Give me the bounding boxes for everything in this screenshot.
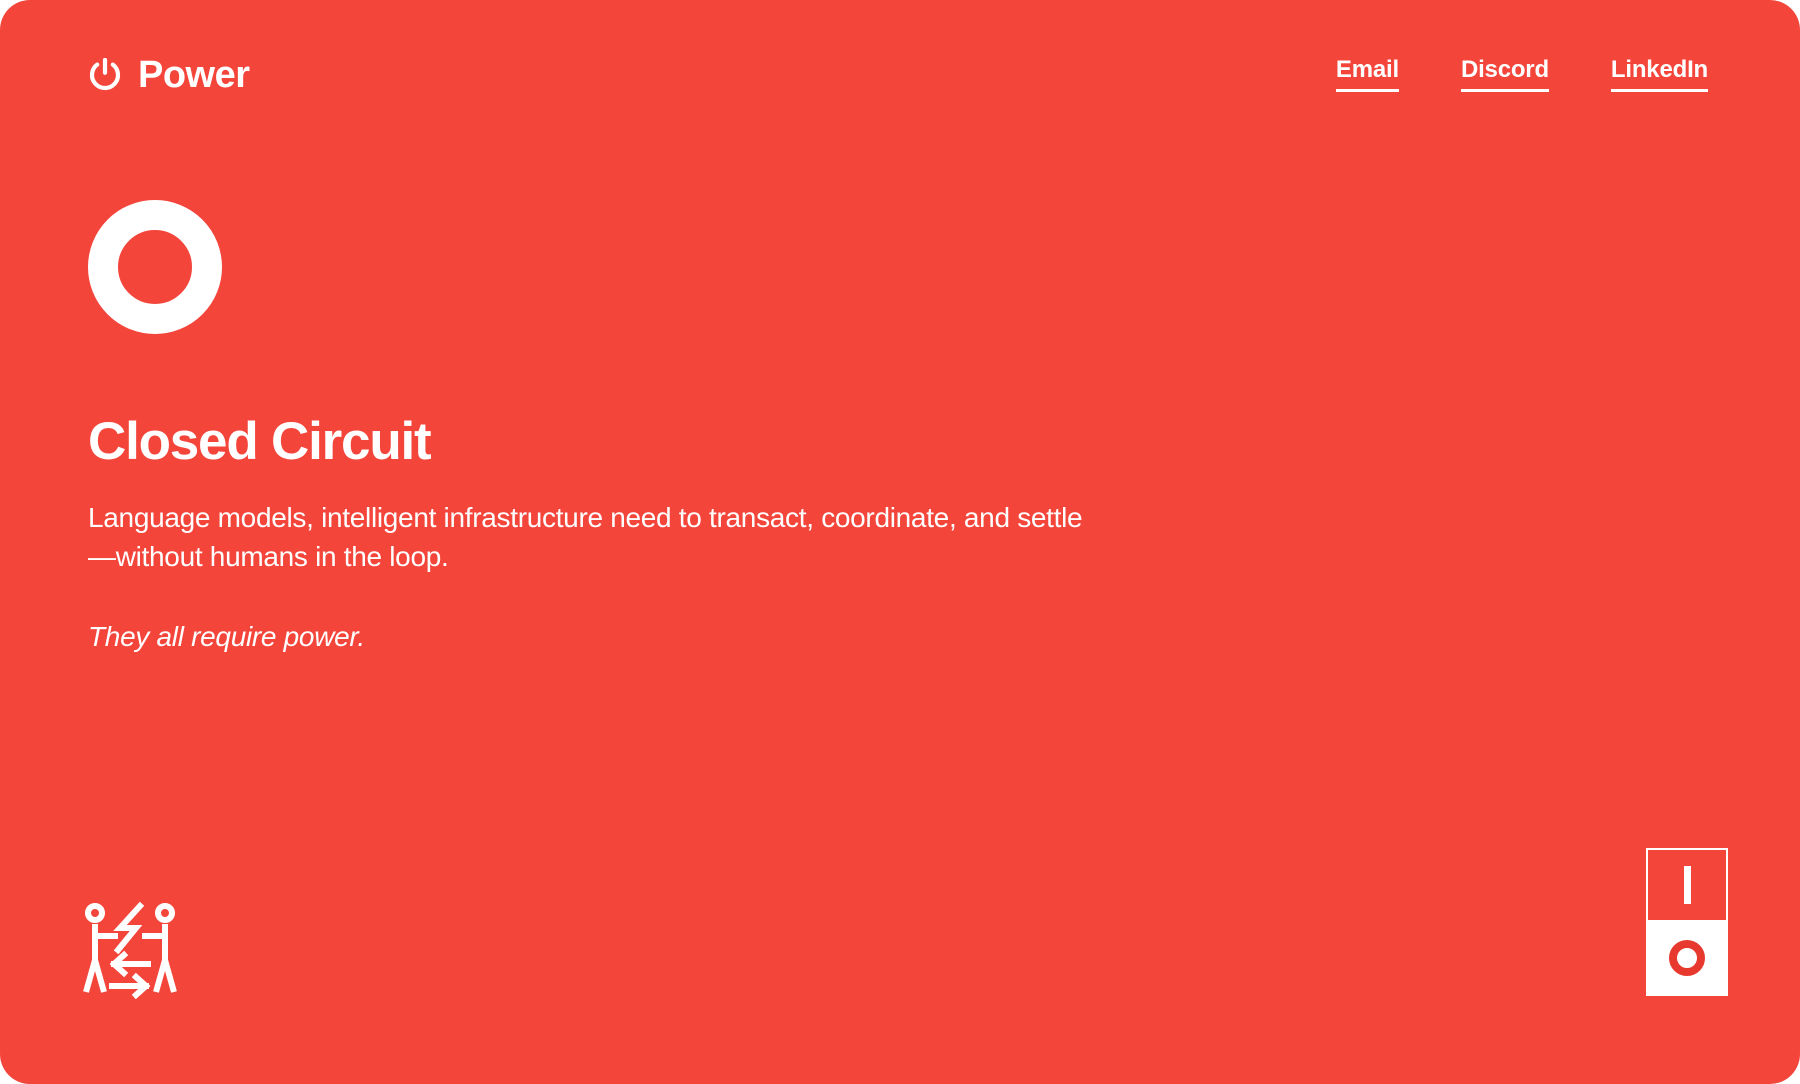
nav-link-email[interactable]: Email [1336, 58, 1399, 92]
power-switch-off-option[interactable] [1648, 922, 1726, 994]
two-agents-exchange-icon [78, 900, 182, 1004]
page-title: Closed Circuit [88, 414, 1288, 470]
site-header: Power Email Discord LinkedIn [0, 0, 1800, 150]
power-off-icon [1669, 940, 1705, 976]
brand-name: Power [138, 56, 250, 94]
power-switch-on-option[interactable] [1648, 850, 1726, 922]
brand-logo[interactable]: Power [88, 56, 250, 94]
main-navigation: Email Discord LinkedIn [1336, 58, 1708, 92]
power-icon [88, 58, 122, 92]
hero-section: Closed Circuit Language models, intellig… [88, 200, 1288, 656]
power-switch[interactable] [1646, 848, 1728, 996]
power-on-icon [1684, 866, 1691, 904]
ring-logo-icon [88, 200, 222, 334]
hero-tagline: They all require power. [88, 619, 1288, 655]
landing-page: Power Email Discord LinkedIn Closed Circ… [0, 0, 1800, 1084]
nav-link-linkedin[interactable]: LinkedIn [1611, 58, 1708, 92]
nav-link-discord[interactable]: Discord [1461, 58, 1549, 92]
hero-description: Language models, intelligent infrastruct… [88, 498, 1098, 578]
